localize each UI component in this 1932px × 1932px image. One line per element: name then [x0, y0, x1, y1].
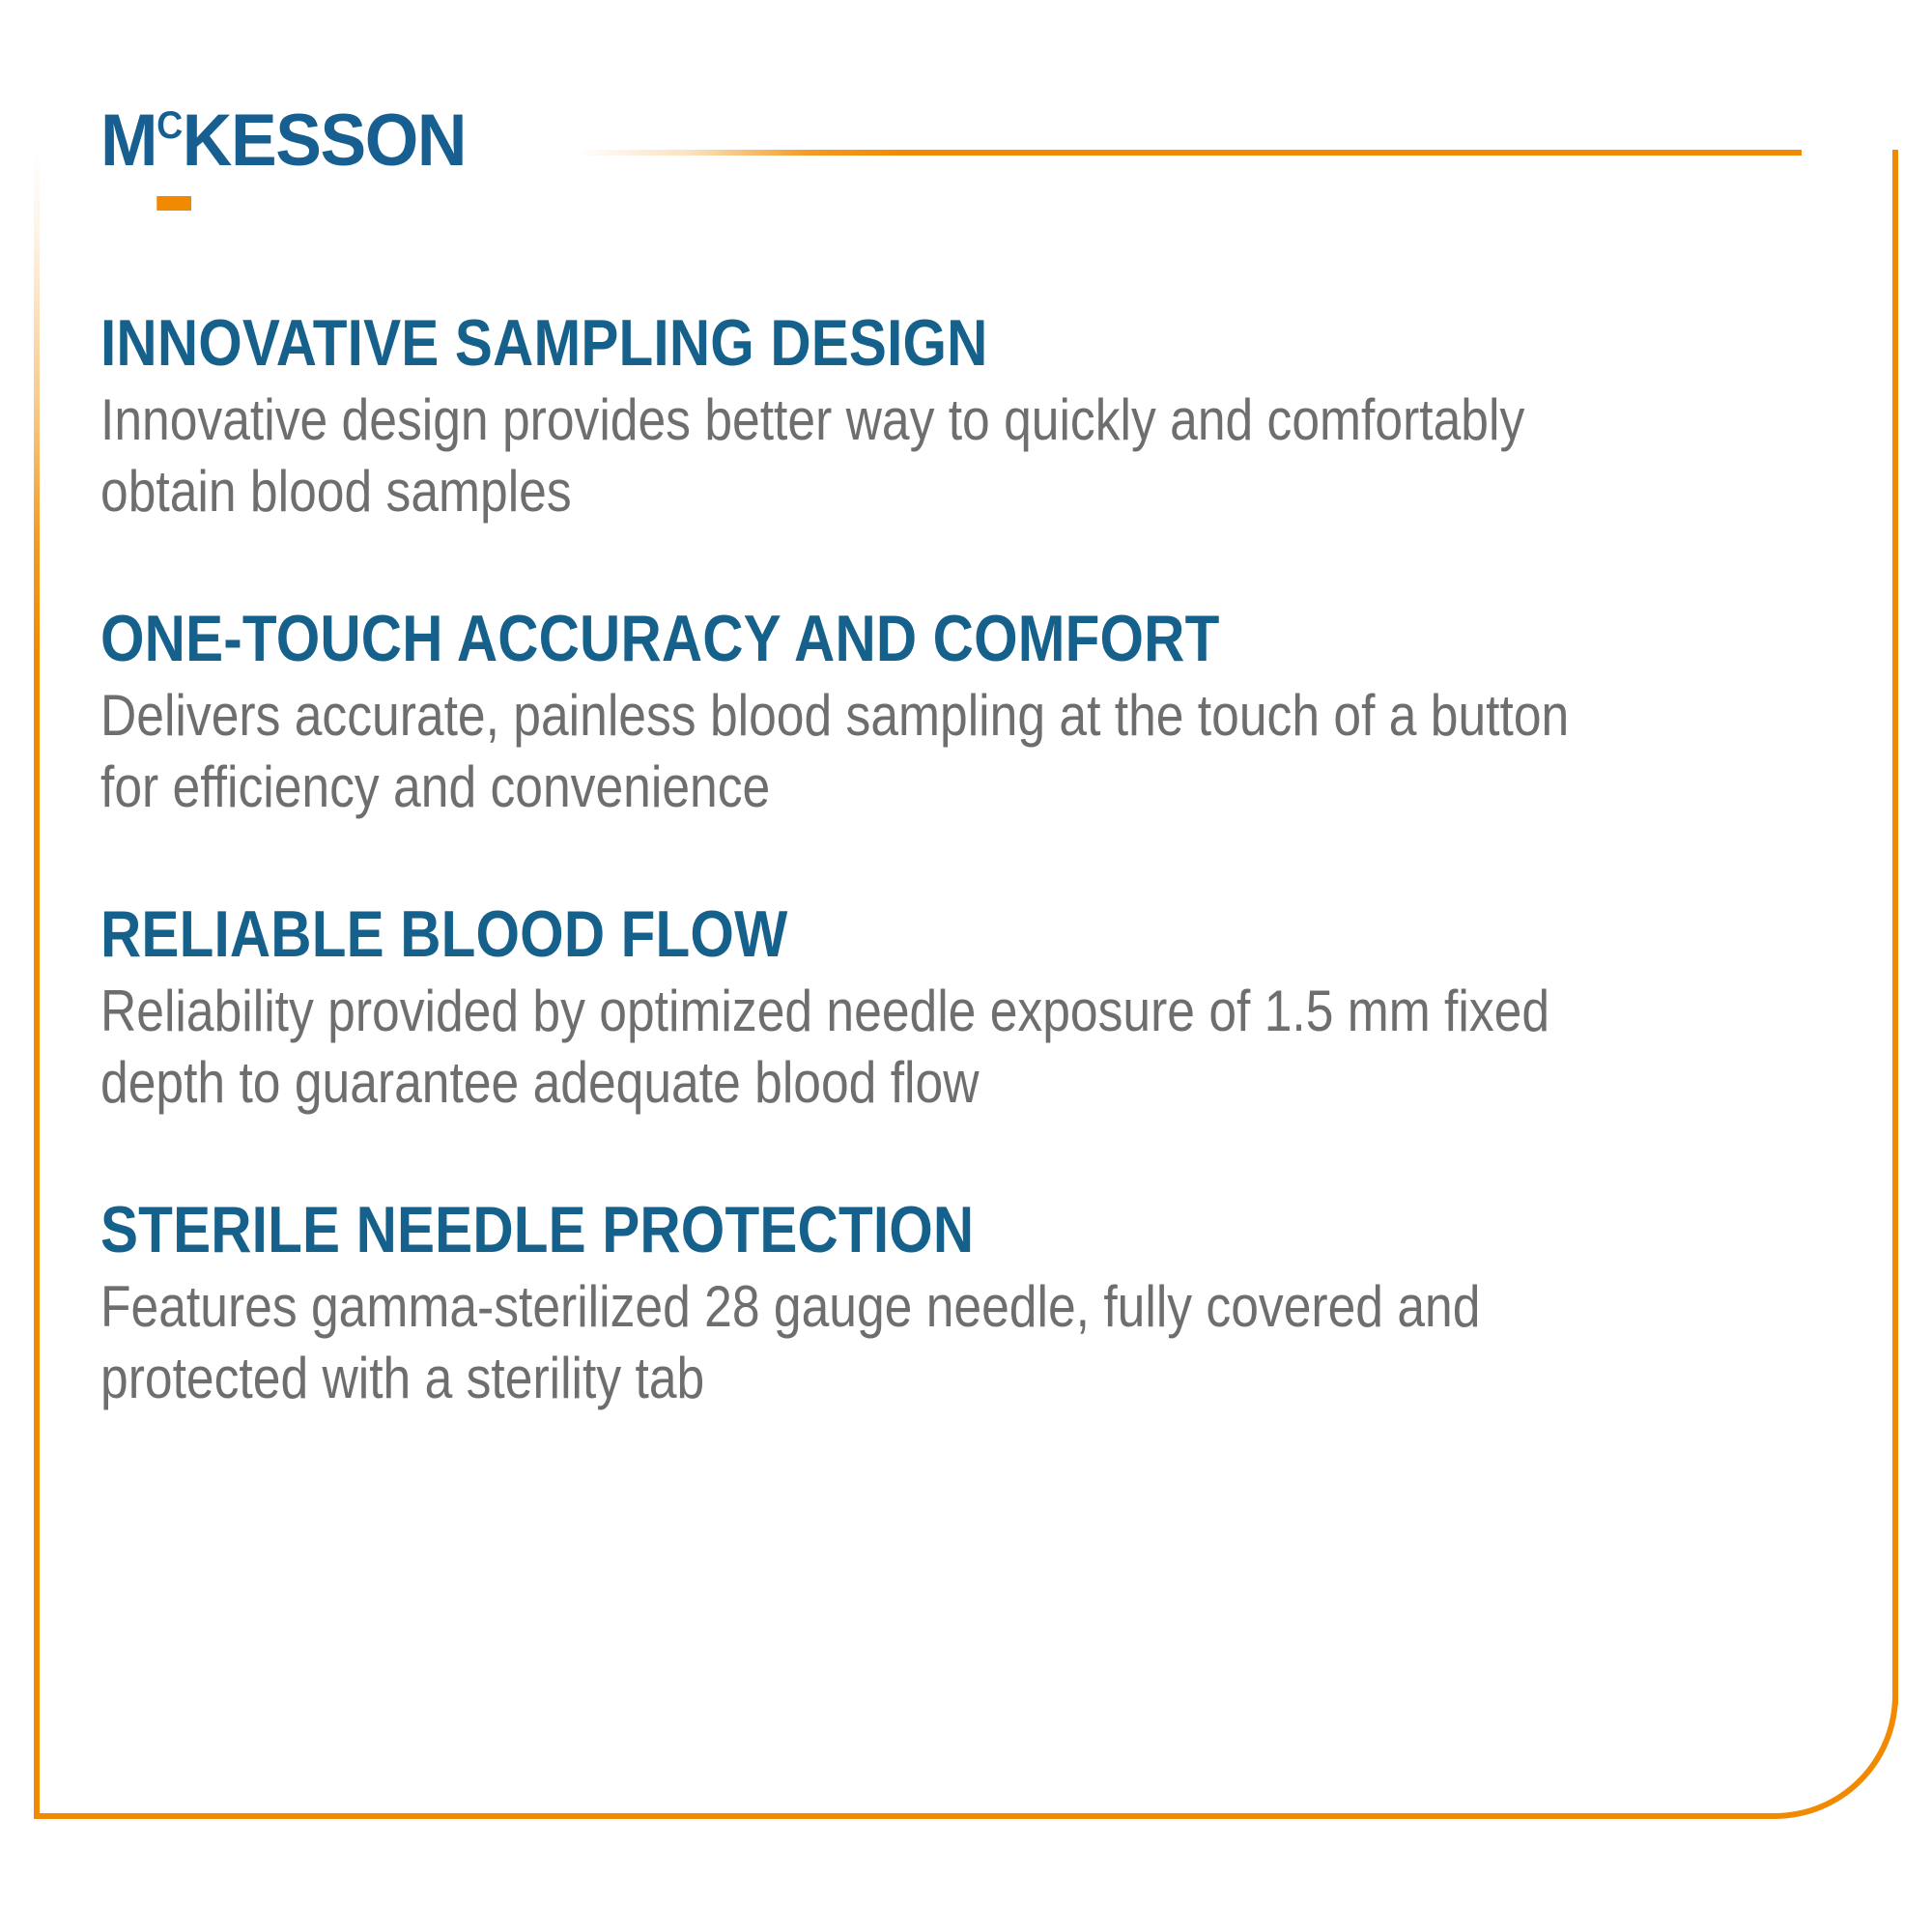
feature-title: ONE-TOUCH ACCURACY AND COMFORT — [100, 603, 1605, 674]
card-border-rounded-corner — [1763, 1686, 1898, 1819]
feature-list: INNOVATIVE SAMPLING DESIGN Innovative de… — [100, 307, 1849, 1414]
logo-orange-underline-bar — [156, 196, 191, 211]
feature-item-reliable-blood-flow: RELIABLE BLOOD FLOW Reliability provided… — [100, 898, 1849, 1119]
card-border-bottom — [34, 1813, 1763, 1819]
feature-description: Features gamma-sterilized 28 gauge needl… — [100, 1271, 1605, 1414]
feature-title: RELIABLE BLOOD FLOW — [100, 898, 1605, 970]
card-border-right — [1892, 150, 1898, 1705]
feature-title: INNOVATIVE SAMPLING DESIGN — [100, 307, 1605, 379]
mckesson-logo: MCKESSON — [100, 104, 489, 182]
feature-title: STERILE NEEDLE PROTECTION — [100, 1194, 1605, 1265]
logo-letters-kesson: KESSON — [183, 104, 466, 178]
mckesson-logo-wordmark: MCKESSON — [100, 104, 466, 178]
feature-item-one-touch-accuracy-and-comfort: ONE-TOUCH ACCURACY AND COMFORT Delivers … — [100, 603, 1849, 823]
feature-description: Delivers accurate, painless blood sampli… — [100, 680, 1605, 823]
logo-superscript-c-group: C — [156, 104, 182, 178]
feature-description: Reliability provided by optimized needle… — [100, 976, 1605, 1119]
feature-item-sterile-needle-protection: STERILE NEEDLE PROTECTION Features gamma… — [100, 1194, 1849, 1414]
product-feature-card: MCKESSON INNOVATIVE SAMPLING DESIGN Inno… — [0, 0, 1932, 1932]
logo-superscript-c: C — [156, 106, 182, 145]
feature-item-innovative-sampling-design: INNOVATIVE SAMPLING DESIGN Innovative de… — [100, 307, 1849, 527]
card-border-left — [34, 150, 40, 1819]
feature-description: Innovative design provides better way to… — [100, 384, 1605, 527]
logo-letter-m: M — [100, 104, 156, 178]
